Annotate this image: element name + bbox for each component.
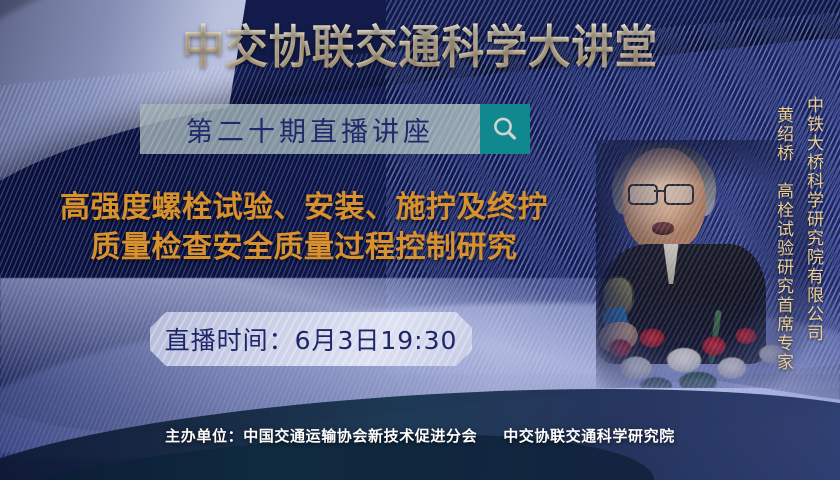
search-icon xyxy=(490,114,520,144)
subtitle-banner: 第二十期直播讲座 xyxy=(140,104,530,154)
headline-line-2: 质量检查安全质量过程控制研究 xyxy=(14,228,594,268)
search-button[interactable] xyxy=(480,104,530,154)
speaker-name-title-text: 黄绍桥 高栓试验研究首席专家 xyxy=(773,106,792,372)
footer-org-1: 中国交通运输协会新技术促进分会 xyxy=(243,427,477,445)
live-time-text: 直播时间：6月3日19:30 xyxy=(165,321,458,357)
headline: 高强度螺栓试验、安装、施拧及终拧 质量检查安全质量过程控制研究 xyxy=(14,188,594,268)
live-time-badge: 直播时间：6月3日19:30 xyxy=(150,312,472,366)
footer-organizers: 主办单位：中国交通运输协会新技术促进分会中交协联交通科学研究院 xyxy=(0,425,840,446)
subtitle-text: 第二十期直播讲座 xyxy=(186,110,434,149)
speaker-company-text: 中铁大桥科学研究院有限公司 xyxy=(803,96,822,343)
footer-label: 主办单位： xyxy=(165,427,243,445)
page-title: 中交协联交通科学大讲堂 xyxy=(34,18,807,76)
headline-line-1: 高强度螺栓试验、安装、施拧及终拧 xyxy=(60,190,548,225)
poster-canvas: 中交协联交通科学大讲堂 第二十期直播讲座 高强度螺栓试验、安装、施拧及终拧 质量… xyxy=(0,0,840,480)
footer-org-2: 中交协联交通科学研究院 xyxy=(503,427,675,445)
